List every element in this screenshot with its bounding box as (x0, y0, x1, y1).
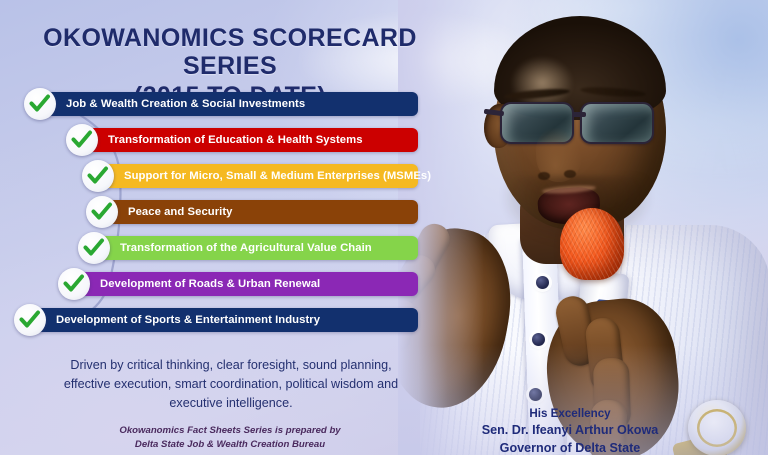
scorecard-row[interactable]: Development of Sports & Entertainment In… (28, 308, 418, 332)
governor-caption: His Excellency Sen. Dr. Ifeanyi Arthur O… (420, 406, 720, 455)
scorecard-list: Job & Wealth Creation & Social Investmen… (0, 92, 440, 342)
scorecard-bar[interactable]: Transformation of the Agricultural Value… (92, 236, 418, 260)
scorecard-row[interactable]: Support for Micro, Small & Medium Enterp… (96, 164, 418, 188)
caption-name: Sen. Dr. Ifeanyi Arthur Okowa (420, 422, 720, 440)
scorecard-bar-label: Development of Sports & Entertainment In… (56, 314, 320, 326)
scorecard-bar[interactable]: Job & Wealth Creation & Social Investmen… (38, 92, 418, 116)
scorecard-row[interactable]: Development of Roads & Urban Renewal (72, 272, 418, 296)
scorecard-bar[interactable]: Development of Sports & Entertainment In… (28, 308, 418, 332)
scorecard-row[interactable]: Job & Wealth Creation & Social Investmen… (38, 92, 418, 116)
scorecard-bar-label: Job & Wealth Creation & Social Investmen… (66, 98, 305, 110)
check-icon (82, 160, 114, 192)
check-icon (14, 304, 46, 336)
check-icon (78, 232, 110, 264)
factsheet-line-2: Delta State Job & Wealth Creation Bureau (70, 438, 390, 452)
scorecard-bar-label: Development of Roads & Urban Renewal (100, 278, 320, 290)
sunglass-bridge (572, 112, 586, 117)
check-icon (86, 196, 118, 228)
caption-office: Governor of Delta State (420, 440, 720, 455)
scorecard-row[interactable]: Transformation of Education & Health Sys… (80, 128, 418, 152)
caption-his-excellency: His Excellency (420, 406, 720, 422)
sunglasses-icon (496, 100, 668, 146)
scorecard-bar-label: Support for Micro, Small & Medium Enterp… (124, 170, 431, 182)
scorecard-row[interactable]: Transformation of the Agricultural Value… (92, 236, 418, 260)
scorecard-bar[interactable]: Transformation of Education & Health Sys… (80, 128, 418, 152)
check-icon (24, 88, 56, 120)
scorecard-bar-label: Peace and Security (128, 206, 233, 218)
title-line-1: OKOWANOMICS SCORECARD SERIES (0, 24, 460, 80)
factsheet-line-1: Okowanomics Fact Sheets Series is prepar… (70, 424, 390, 438)
scorecard-bar-label: Transformation of Education & Health Sys… (108, 134, 363, 146)
microphone-mesh (560, 208, 624, 280)
check-icon (58, 268, 90, 300)
scorecard-bar[interactable]: Peace and Security (100, 200, 418, 224)
scorecard-bar[interactable]: Support for Micro, Small & Medium Enterp… (96, 164, 418, 188)
button-stud-icon (536, 276, 549, 289)
check-icon (66, 124, 98, 156)
scorecard-bar[interactable]: Development of Roads & Urban Renewal (72, 272, 418, 296)
driven-statement: Driven by critical thinking, clear fores… (56, 356, 406, 413)
sunglass-lens (580, 102, 654, 144)
scorecard-bar-label: Transformation of the Agricultural Value… (120, 242, 372, 254)
poster-canvas: OKOWANOMICS SCORECARD SERIES (2015 TO DA… (0, 0, 768, 455)
scorecard-row[interactable]: Peace and Security (100, 200, 418, 224)
factsheet-credit: Okowanomics Fact Sheets Series is prepar… (70, 424, 390, 452)
